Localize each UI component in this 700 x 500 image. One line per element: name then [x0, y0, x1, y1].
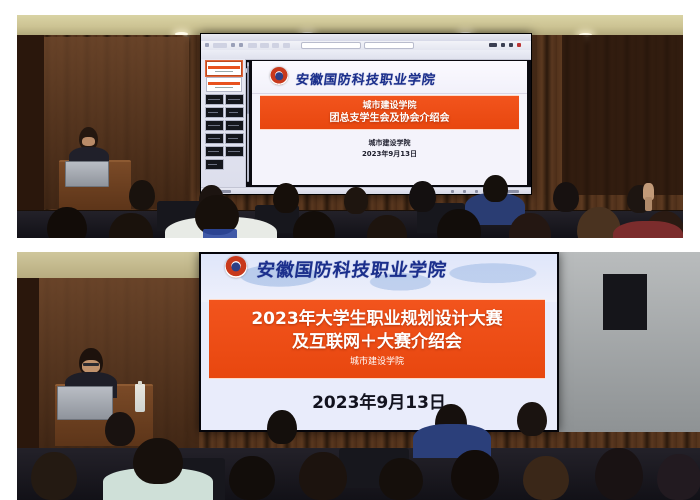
- photo-top: 安徽国防科技职业学院 城市建设学院 团总支学生会及协会介绍会 城市建设学院 20…: [17, 15, 683, 238]
- slide-subtitle-date: 2023年9月13日: [201, 388, 557, 413]
- university-emblem-icon: [270, 67, 288, 85]
- slide-thumbnail[interactable]: [205, 94, 224, 105]
- ppt-search-box[interactable]: [301, 42, 361, 49]
- audience-head-foreground: [595, 448, 643, 500]
- wall-shadow-left: [17, 35, 44, 210]
- slide-subtitle-org: 城市建设学院: [252, 138, 527, 148]
- audience-body-foreground: [613, 221, 683, 238]
- audience-head: [344, 187, 368, 214]
- raised-arm: [645, 197, 652, 211]
- slide-thumbnail[interactable]: [205, 120, 224, 131]
- slide-thumbnail[interactable]: [205, 159, 224, 170]
- audience-head: [409, 181, 436, 212]
- projection-screen: 安徽国防科技职业学院 城市建设学院 团总支学生会及协会介绍会 城市建设学院 20…: [200, 33, 532, 195]
- slide-subtitle-org: 城市建设学院: [350, 354, 404, 370]
- audience-head-foreground: [31, 452, 77, 500]
- slide-header: 安徽国防科技职业学院: [252, 61, 527, 94]
- wall-shadow-right: [562, 35, 683, 195]
- slide-thumbnail[interactable]: [205, 107, 224, 118]
- slide-title-band: 城市建设学院 团总支学生会及协会介绍会: [260, 95, 519, 130]
- close-icon[interactable]: [517, 43, 521, 47]
- slide-thumbnail[interactable]: [225, 107, 244, 118]
- audience-head-foreground: [299, 452, 347, 500]
- shirt-graphic: [203, 229, 237, 238]
- slide-thumbnail[interactable]: [206, 77, 242, 92]
- audience-head-foreground: [451, 450, 499, 500]
- slide-title-band: 2023年大学生职业规划设计大赛 及互联网＋大赛介绍会 城市建设学院: [209, 299, 545, 379]
- projection-screen: 安徽国防科技职业学院 2023年大学生职业规划设计大赛 及互联网＋大赛介绍会 城…: [199, 252, 559, 432]
- audience-head: [483, 175, 508, 202]
- photo-bottom: 安徽国防科技职业学院 2023年大学生职业规划设计大赛 及互联网＋大赛介绍会 城…: [17, 252, 700, 500]
- slide-title-line1: 城市建设学院: [362, 100, 416, 112]
- slide-thumbnail[interactable]: [225, 133, 244, 144]
- slide-canvas[interactable]: 安徽国防科技职业学院 2023年大学生职业规划设计大赛 及互联网＋大赛介绍会 城…: [201, 254, 557, 430]
- ppt-command-row: [201, 50, 531, 60]
- photo-collage: 安徽国防科技职业学院 城市建设学院 团总支学生会及协会介绍会 城市建设学院 20…: [0, 0, 700, 500]
- wall-recess: [603, 274, 647, 330]
- window-controls[interactable]: [489, 43, 497, 47]
- slide-title-line1: 2023年大学生职业规划设计大赛: [251, 308, 502, 331]
- audience-head-foreground: [133, 438, 183, 484]
- audience-head: [267, 410, 297, 444]
- audience-head: [129, 180, 155, 210]
- wall-shadow-left: [17, 278, 39, 458]
- screen-content: 安徽国防科技职业学院 2023年大学生职业规划设计大赛 及互联网＋大赛介绍会 城…: [201, 254, 557, 430]
- slide-thumbnail[interactable]: [205, 146, 224, 157]
- ppt-filename-box[interactable]: [364, 42, 414, 49]
- slide-thumbnail[interactable]: [206, 61, 242, 76]
- slide-title-line2: 团总支学生会及协会介绍会: [330, 112, 450, 125]
- slide-canvas[interactable]: 安徽国防科技职业学院 城市建设学院 团总支学生会及协会介绍会 城市建设学院 20…: [252, 61, 527, 185]
- university-name: 安徽国防科技职业学院: [255, 256, 449, 282]
- maximize-icon[interactable]: [509, 43, 513, 47]
- laptop-on-podium: [57, 386, 113, 420]
- university-emblem-icon: [225, 256, 247, 278]
- audience-head-foreground: [229, 456, 275, 500]
- minimize-icon[interactable]: [501, 43, 505, 47]
- glasses-icon: [83, 363, 99, 366]
- audience-head-foreground: [657, 454, 700, 500]
- thumbnail-scrollbar[interactable]: [247, 62, 249, 182]
- laptop-on-podium: [65, 161, 109, 187]
- slide-thumbnail[interactable]: [225, 120, 244, 131]
- audience-head-foreground: [523, 456, 569, 500]
- speaker-face: [82, 137, 95, 146]
- audience-head: [105, 412, 135, 446]
- slide-title-line2: 及互联网＋大赛介绍会: [292, 331, 462, 354]
- ceiling: [17, 15, 683, 35]
- audience-head: [553, 182, 579, 212]
- slide-thumbnail[interactable]: [225, 146, 244, 157]
- slide-thumbnail[interactable]: [225, 94, 244, 105]
- audience-head-foreground: [379, 458, 423, 500]
- screen-content: 安徽国防科技职业学院 城市建设学院 团总支学生会及协会介绍会 城市建设学院 20…: [201, 34, 531, 194]
- slide-subtitle-date: 2023年9月13日: [252, 149, 527, 159]
- audience-head: [273, 183, 299, 213]
- water-bottle: [135, 384, 145, 412]
- university-name: 安徽国防科技职业学院: [295, 69, 438, 88]
- audience-head: [517, 402, 547, 436]
- ppt-title-bar: [201, 34, 531, 41]
- slide-thumbnail[interactable]: [205, 133, 224, 144]
- slide-thumbnail-panel[interactable]: [201, 59, 246, 188]
